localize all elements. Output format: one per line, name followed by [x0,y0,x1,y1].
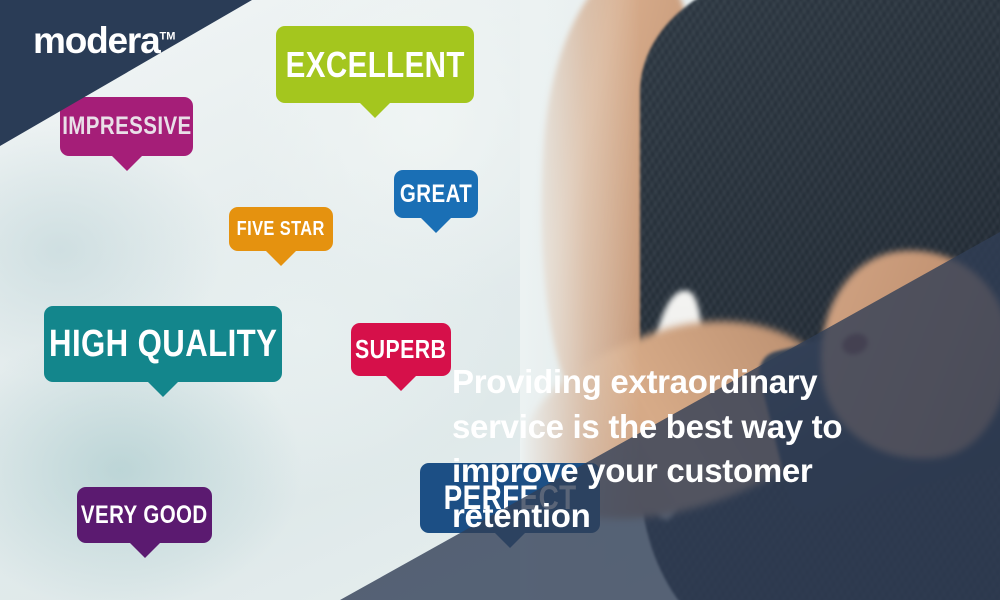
trademark-icon: TM [159,31,175,43]
rating-badge-very-good: VERY GOOD [77,487,212,543]
rating-badge-label: IMPRESSIVE [62,112,191,141]
logo-wordmark: modera [33,20,159,61]
rating-badge-great: GREAT [394,170,478,218]
rating-badge-superb: SUPERB [351,323,451,376]
brand-logo[interactable]: moderaTM [33,22,175,59]
rating-badge-five-star: FIVE STAR [229,207,333,251]
rating-badge-impressive: IMPRESSIVE [60,97,193,156]
rating-badge-label: HIGH QUALITY [49,323,277,366]
rating-badge-label: VERY GOOD [81,501,208,530]
rating-badge-excellent: EXCELLENT [276,26,474,103]
rating-badge-high-quality: HIGH QUALITY [44,306,282,382]
headline-text: Providing extraordinary service is the b… [452,360,922,538]
rating-badge-label: EXCELLENT [285,44,464,86]
marketing-banner: EXCELLENTIMPRESSIVEGREATFIVE STARHIGH QU… [0,0,1000,600]
rating-badge-label: FIVE STAR [237,218,325,241]
rating-badge-label: SUPERB [355,334,446,365]
rating-badge-label: GREAT [400,180,472,209]
